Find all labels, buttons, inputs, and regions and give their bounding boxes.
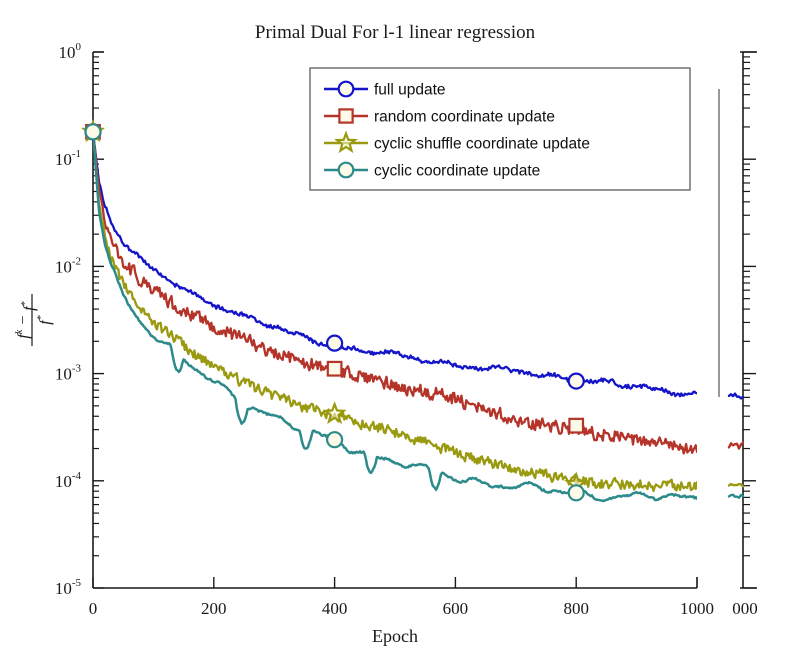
y-label-numerator: fk − f* (14, 301, 38, 338)
y-tick-label: 10-3 (55, 363, 82, 384)
y-axis-label: fk − f*f* (14, 294, 54, 346)
marker-circle-cyclic-coordinate-update (327, 432, 342, 447)
legend-label-1: random coordinate update (374, 109, 555, 126)
marker-square-random-coordinate-update (328, 362, 342, 376)
y-tick-label: 100 (59, 41, 82, 62)
y-tick-label: 10-1 (55, 148, 81, 169)
legend-marker-square-1 (339, 109, 352, 122)
x-tick-label: 0 (89, 599, 98, 618)
figure-root: Primal Dual For l-1 linear regression100… (0, 0, 788, 653)
x-axis-label: Epoch (372, 626, 418, 646)
y-tick-label: 10-2 (55, 255, 81, 276)
y-tick-label: 10-5 (55, 577, 82, 598)
marker-circle-full-update (569, 374, 584, 389)
marker-circle-cyclic-coordinate-update (86, 124, 101, 139)
x-tick-label: 800 (563, 599, 589, 618)
legend-label-3: cyclic coordinate update (374, 163, 540, 180)
chart-title: Primal Dual For l-1 linear regression (255, 22, 536, 43)
legend-label-2: cyclic shuffle coordinate update (374, 136, 590, 153)
x-tick-label: 600 (443, 599, 469, 618)
side-curve-tail-3 (729, 495, 743, 498)
side-curve-tail-1 (729, 443, 743, 449)
x-tick-label: 400 (322, 599, 348, 618)
side-x-tick-label: 000 (732, 599, 758, 618)
marker-circle-cyclic-coordinate-update (569, 485, 584, 500)
side-curve-tail-2 (729, 484, 743, 486)
marker-star-cyclic-shuffle-coordinate-update (325, 404, 343, 421)
legend-label-0: full update (374, 82, 446, 99)
x-tick-label: 1000 (680, 599, 714, 618)
x-tick-label: 200 (201, 599, 227, 618)
side-curve-tail-0 (729, 394, 743, 399)
y-label-denominator: f* (36, 315, 54, 324)
legend-marker-circle-0 (339, 82, 354, 97)
marker-circle-full-update (327, 336, 342, 351)
legend-marker-circle-3 (339, 163, 354, 178)
marker-square-random-coordinate-update (569, 419, 583, 433)
y-tick-label: 10-4 (55, 470, 82, 491)
chart-svg: Primal Dual For l-1 linear regression100… (0, 0, 788, 653)
